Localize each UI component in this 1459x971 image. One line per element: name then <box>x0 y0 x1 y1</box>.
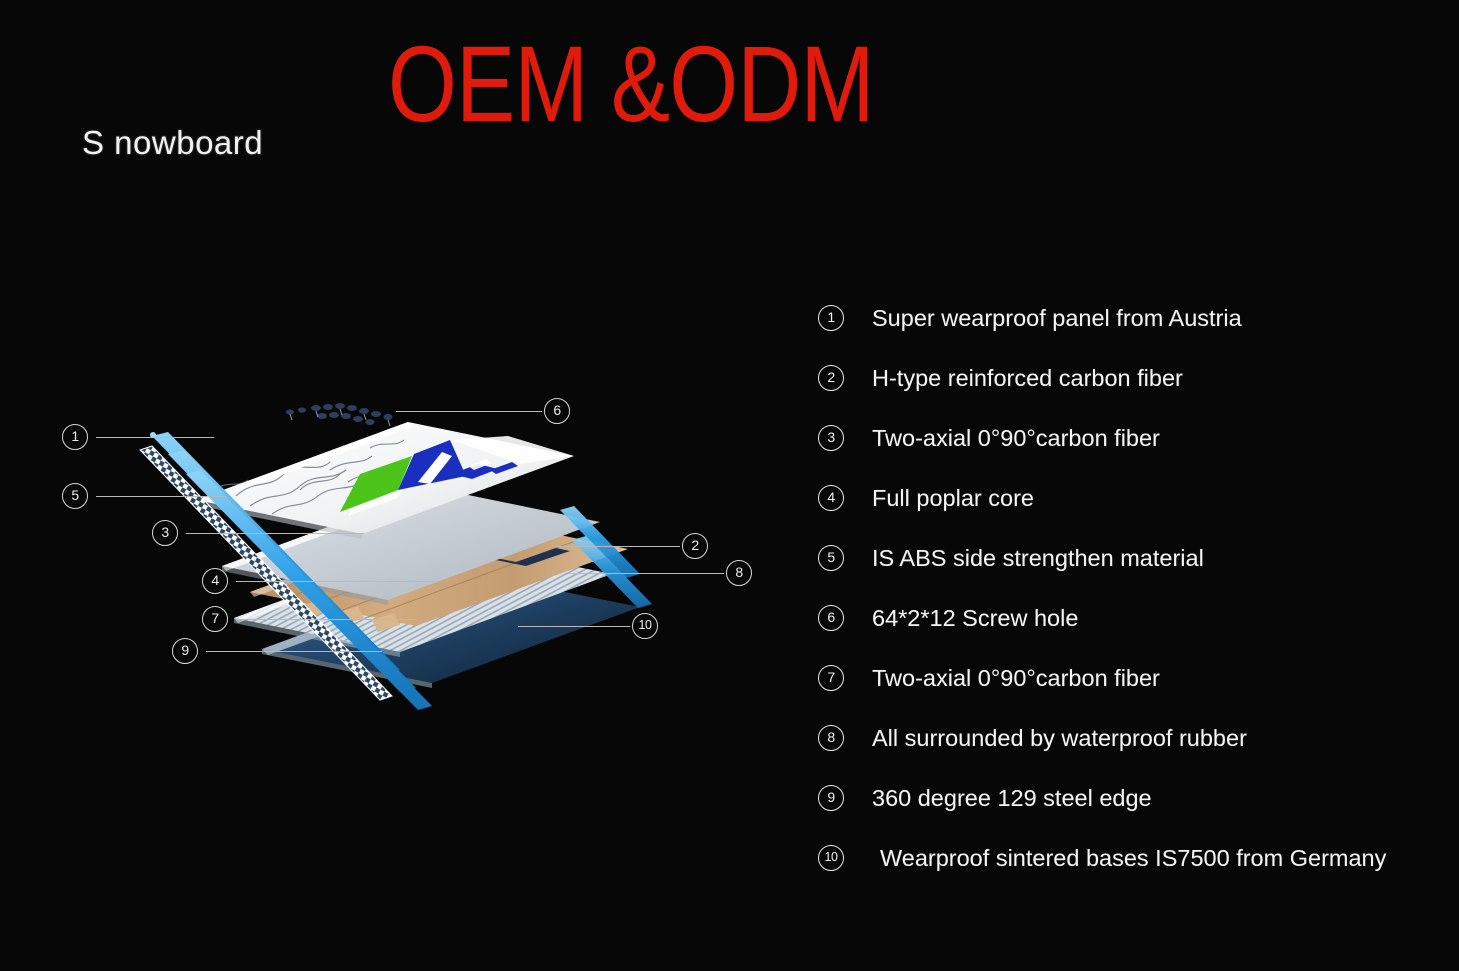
poster-canvas: OEM &ODM S nowboard <box>0 0 1459 971</box>
legend-label-2: H-type reinforced carbon fiber <box>872 365 1183 392</box>
list-item[interactable]: 5 IS ABS side strengthen material <box>818 528 1438 588</box>
diagram-callout-8[interactable]: 8 <box>726 560 752 586</box>
legend-label-5: IS ABS side strengthen material <box>872 545 1204 572</box>
legend-label-9: 360 degree 129 steel edge <box>872 785 1152 812</box>
legend-marker-8: 8 <box>818 725 844 751</box>
legend-label-4: Full poplar core <box>872 485 1034 512</box>
list-item[interactable]: 8 All surrounded by waterproof rubber <box>818 708 1438 768</box>
list-item[interactable]: 6 64*2*12 Screw hole <box>818 588 1438 648</box>
leader-line-7 <box>236 619 416 620</box>
legend-label-10: Wearproof sintered bases IS7500 from Ger… <box>880 845 1386 872</box>
leader-line-3 <box>186 533 364 534</box>
leader-line-8 <box>568 573 724 574</box>
legend-marker-2: 2 <box>818 365 844 391</box>
list-item[interactable]: 1 Super wearproof panel from Austria <box>818 288 1438 348</box>
legend-label-1: Super wearproof panel from Austria <box>872 305 1242 332</box>
list-item[interactable]: 3 Two-axial 0°90°carbon fiber <box>818 408 1438 468</box>
diagram-callout-6[interactable]: 6 <box>544 398 570 424</box>
diagram-callout-2[interactable]: 2 <box>682 533 708 559</box>
diagram-callout-4[interactable]: 4 <box>202 568 228 594</box>
diagram-callout-1[interactable]: 1 <box>62 424 88 450</box>
legend-marker-7: 7 <box>818 665 844 691</box>
diagram-callout-3[interactable]: 3 <box>152 520 178 546</box>
feature-legend-list: 1 Super wearproof panel from Austria 2 H… <box>818 288 1438 888</box>
diagram-callout-5[interactable]: 5 <box>62 483 88 509</box>
list-item[interactable]: 2 H-type reinforced carbon fiber <box>818 348 1438 408</box>
page-title: OEM &ODM <box>388 30 873 138</box>
leader-line-6 <box>396 411 542 412</box>
leader-line-5 <box>96 496 226 497</box>
screw-hole-inserts <box>286 403 393 426</box>
list-item[interactable]: 7 Two-axial 0°90°carbon fiber <box>818 648 1438 708</box>
exploded-board-diagram: 1 5 3 4 7 9 6 2 8 10 <box>0 370 790 710</box>
list-item[interactable]: 9 360 degree 129 steel edge <box>818 768 1438 828</box>
legend-marker-10: 10 <box>818 845 844 871</box>
leader-line-10 <box>518 626 630 627</box>
snowboard-layers-illustration <box>0 370 790 710</box>
diagram-callout-7[interactable]: 7 <box>202 606 228 632</box>
leader-line-9 <box>206 651 382 652</box>
legend-marker-1: 1 <box>818 305 844 331</box>
legend-marker-6: 6 <box>818 605 844 631</box>
leader-line-2 <box>556 546 680 547</box>
legend-label-6: 64*2*12 Screw hole <box>872 605 1078 632</box>
diagram-callout-10[interactable]: 10 <box>632 613 658 639</box>
legend-label-8: All surrounded by waterproof rubber <box>872 725 1247 752</box>
legend-marker-5: 5 <box>818 545 844 571</box>
legend-marker-9: 9 <box>818 785 844 811</box>
leader-line-4 <box>236 581 436 582</box>
list-item[interactable]: 10 Wearproof sintered bases IS7500 from … <box>818 828 1438 888</box>
diagram-callout-9[interactable]: 9 <box>172 638 198 664</box>
leader-line-1 <box>96 437 214 438</box>
legend-marker-3: 3 <box>818 425 844 451</box>
legend-label-7: Two-axial 0°90°carbon fiber <box>872 665 1160 692</box>
legend-marker-4: 4 <box>818 485 844 511</box>
product-subtitle: S nowboard <box>82 126 263 159</box>
legend-label-3: Two-axial 0°90°carbon fiber <box>872 425 1160 452</box>
list-item[interactable]: 4 Full poplar core <box>818 468 1438 528</box>
